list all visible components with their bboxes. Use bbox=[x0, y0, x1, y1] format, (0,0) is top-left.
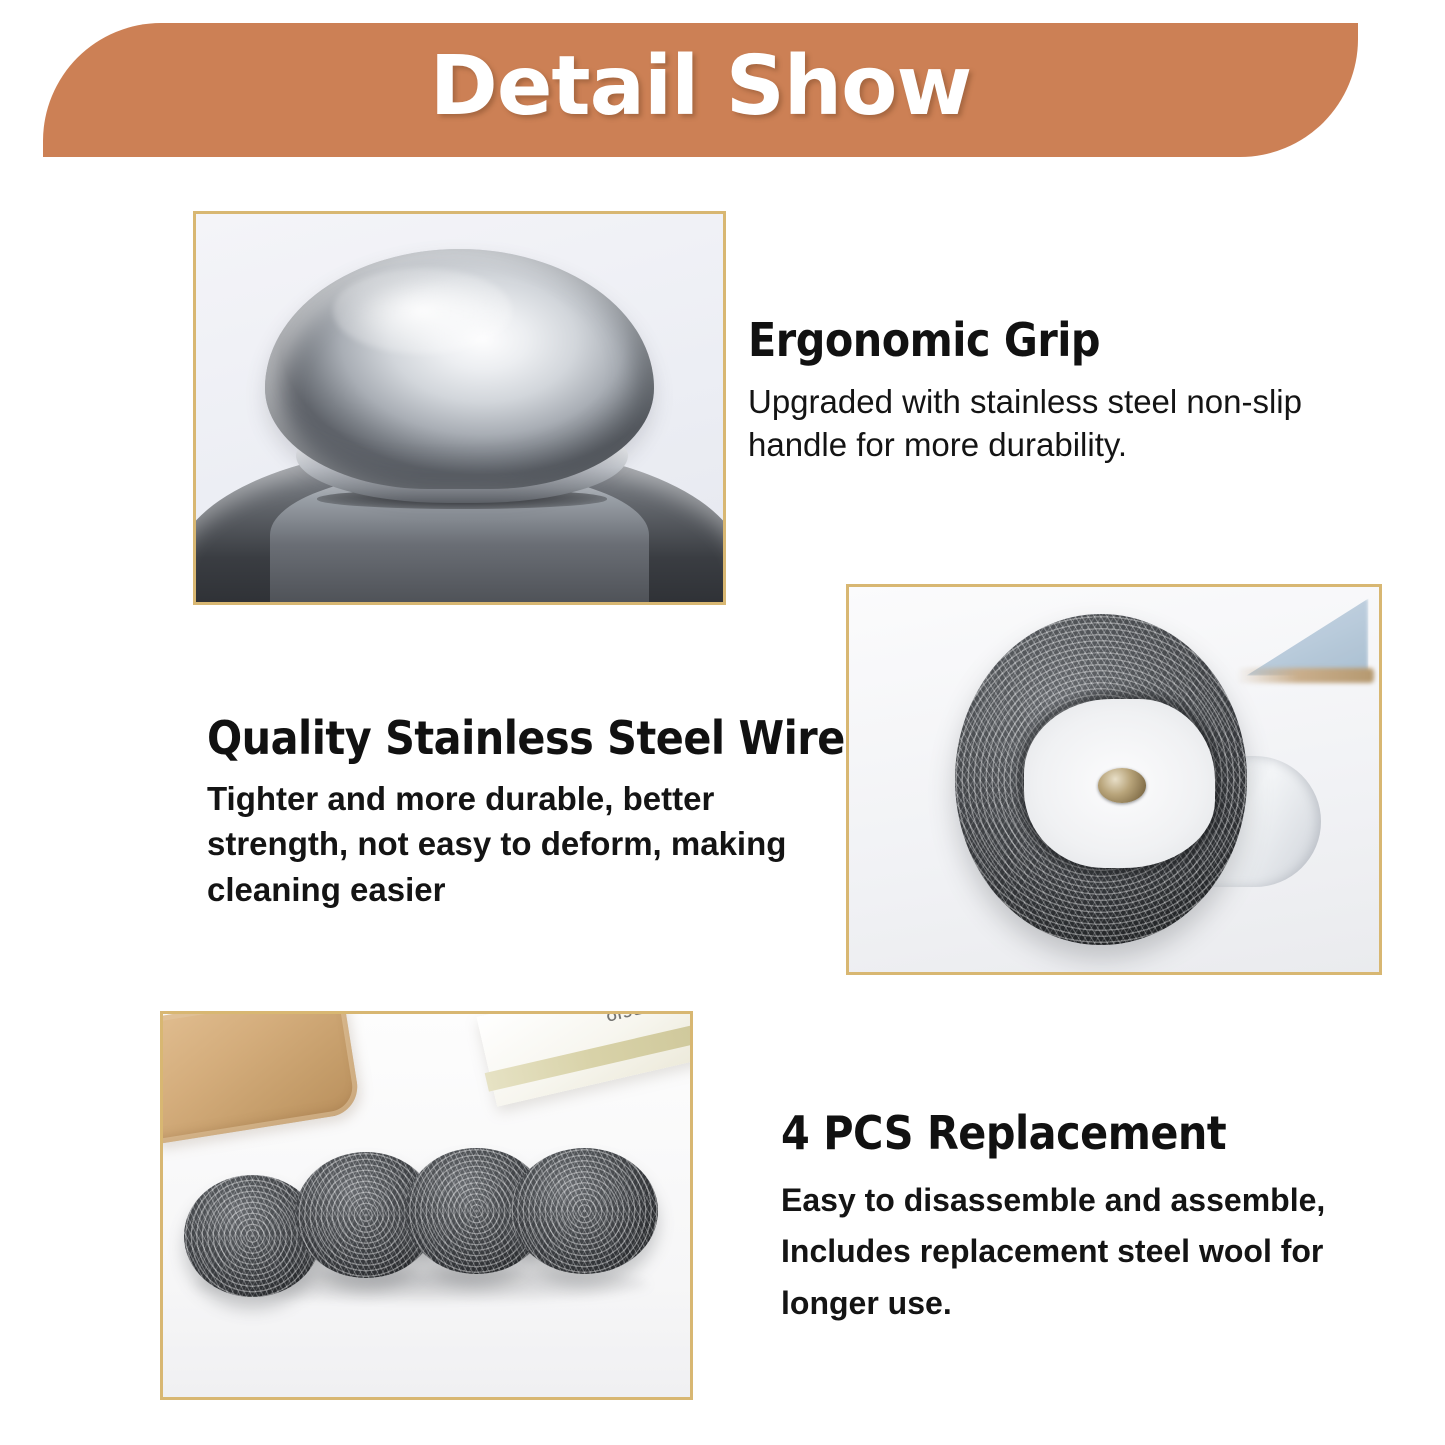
feature-heading: Quality Stainless Steel Wire bbox=[207, 713, 847, 764]
tan-backdrop-stripe bbox=[1236, 668, 1374, 683]
feature-image-4-pcs-replacement: GIORGIO bbox=[160, 1011, 693, 1400]
product-detail-page: Detail Show Ergonomic Grip Upgraded with… bbox=[0, 0, 1445, 1445]
center-screw bbox=[1098, 768, 1146, 803]
photo-ergonomic-grip bbox=[196, 214, 723, 602]
feature-body: Easy to disassemble and assemble, Includ… bbox=[781, 1175, 1341, 1330]
feature-image-ergonomic-grip bbox=[193, 211, 726, 605]
photo-four-scrubbers: GIORGIO bbox=[163, 1014, 690, 1397]
page-title: Detail Show bbox=[430, 46, 972, 128]
feature-text-quality-stainless-steel-wire: Quality Stainless Steel Wire Tighter and… bbox=[207, 713, 847, 912]
feature-image-quality-stainless-steel-wire bbox=[846, 584, 1382, 975]
feature-body: Tighter and more durable, better strengt… bbox=[207, 776, 847, 913]
feature-body: Upgraded with stainless steel non-slip h… bbox=[748, 380, 1348, 468]
feature-heading: 4 PCS Replacement bbox=[781, 1108, 1341, 1159]
scrubber-pad bbox=[511, 1148, 659, 1274]
feature-text-4-pcs-replacement: 4 PCS Replacement Easy to disassemble an… bbox=[781, 1108, 1341, 1330]
header-banner: Detail Show bbox=[43, 23, 1358, 157]
dome-highlight bbox=[333, 268, 512, 353]
feature-heading: Ergonomic Grip bbox=[748, 315, 1348, 366]
photo-wire-scrubber bbox=[849, 587, 1379, 972]
feature-text-ergonomic-grip: Ergonomic Grip Upgraded with stainless s… bbox=[748, 315, 1348, 467]
